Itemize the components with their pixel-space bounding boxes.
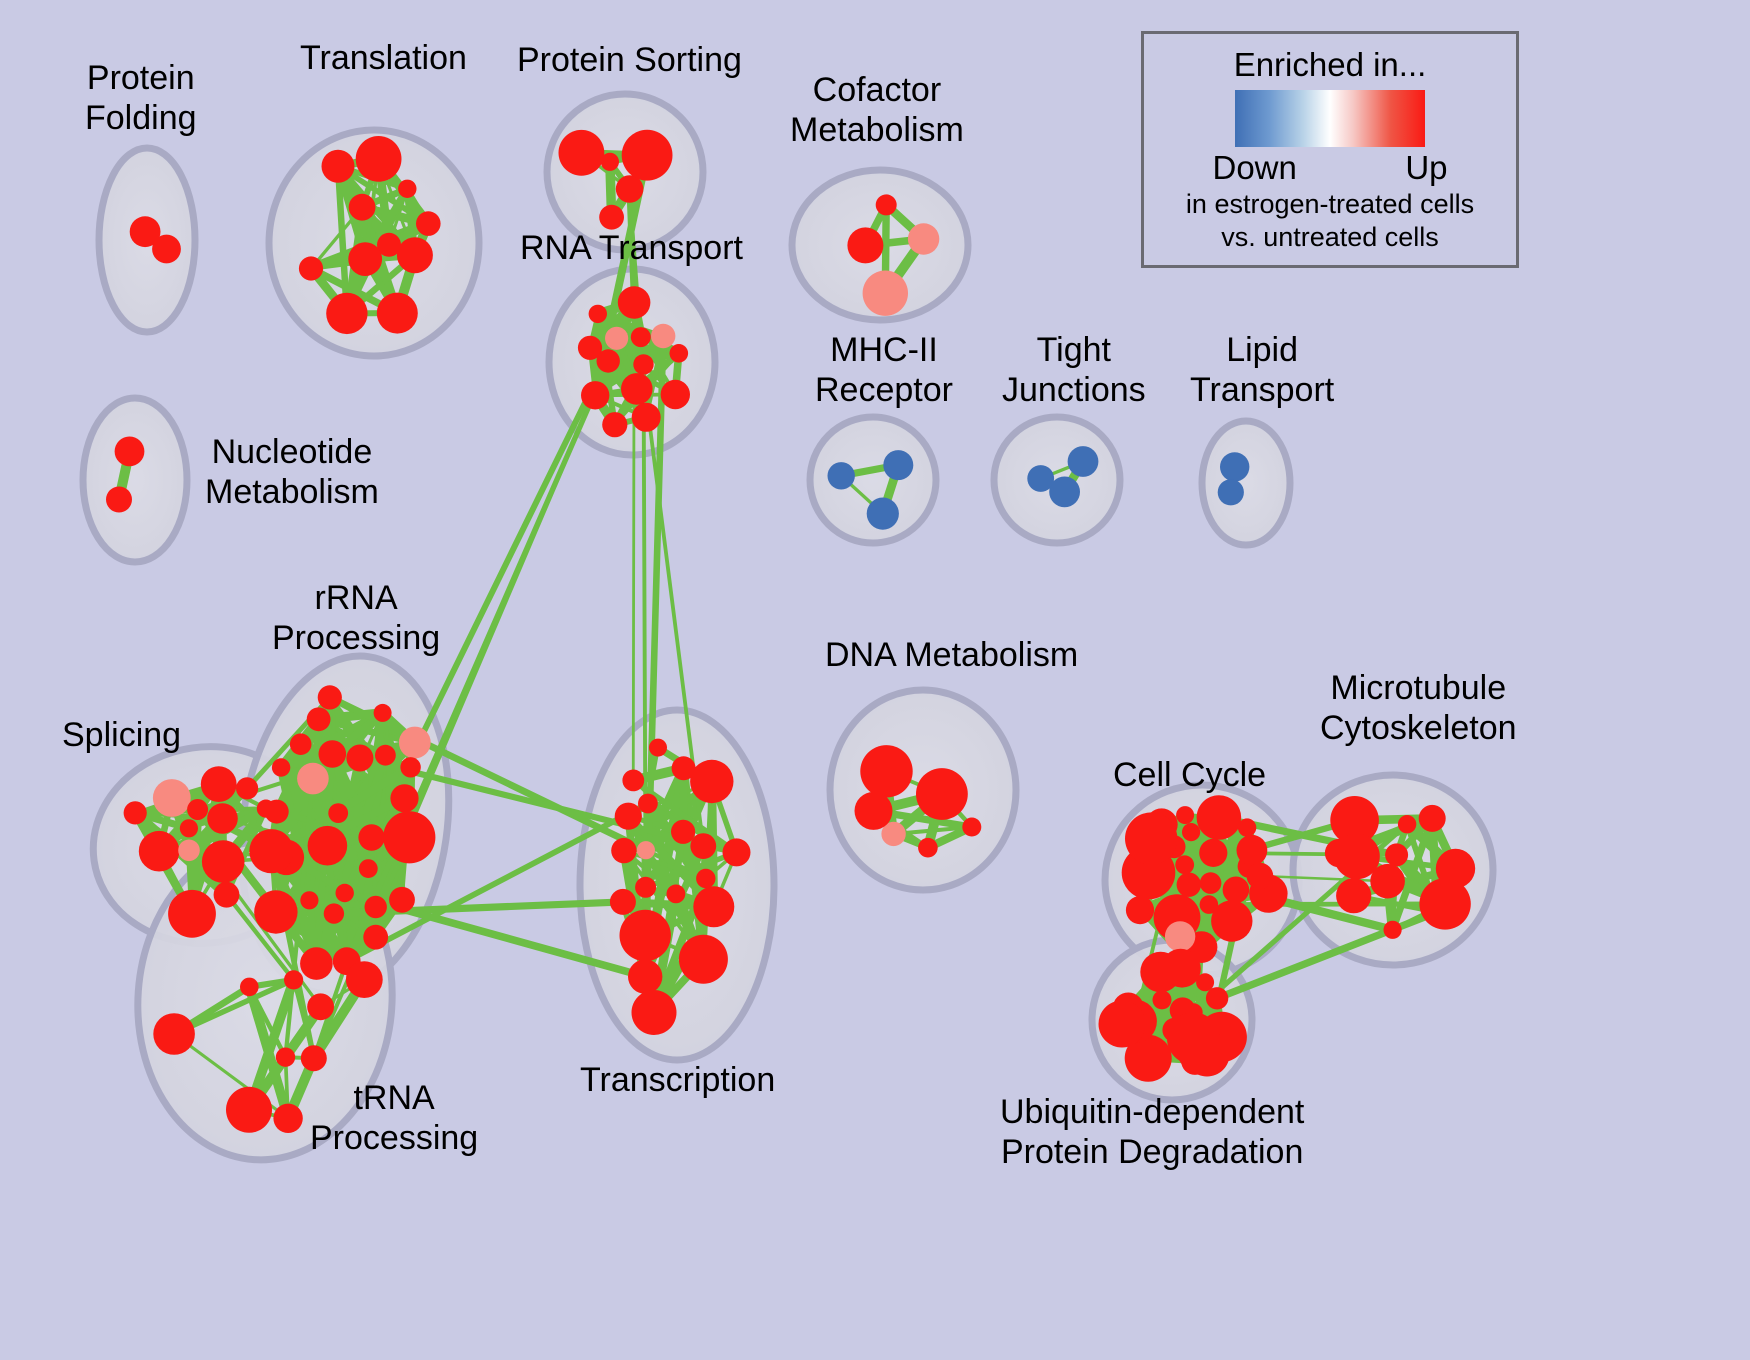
network-node[interactable]: [860, 745, 912, 797]
network-node[interactable]: [916, 768, 968, 820]
network-node[interactable]: [602, 412, 627, 437]
network-node[interactable]: [153, 779, 191, 817]
network-node[interactable]: [346, 961, 383, 998]
network-node[interactable]: [622, 130, 673, 181]
network-node[interactable]: [962, 818, 981, 837]
network-node[interactable]: [1196, 973, 1214, 991]
network-node[interactable]: [272, 758, 290, 776]
network-node[interactable]: [632, 403, 661, 432]
network-node[interactable]: [390, 784, 418, 812]
network-node[interactable]: [106, 487, 132, 513]
network-node[interactable]: [187, 799, 208, 820]
network-node[interactable]: [1175, 855, 1194, 874]
network-node[interactable]: [1385, 843, 1408, 866]
network-node[interactable]: [307, 707, 331, 731]
network-node[interactable]: [1384, 921, 1402, 939]
network-node[interactable]: [359, 859, 378, 878]
network-node[interactable]: [308, 826, 348, 866]
network-node[interactable]: [318, 685, 342, 709]
legend-subtitle-line2: vs. untreated cells: [1221, 222, 1439, 253]
network-node[interactable]: [1162, 949, 1199, 986]
network-node[interactable]: [375, 745, 396, 766]
network-node[interactable]: [301, 1045, 327, 1071]
network-node[interactable]: [180, 819, 198, 837]
network-node[interactable]: [696, 869, 715, 888]
network-node[interactable]: [336, 884, 354, 902]
network-node[interactable]: [207, 803, 238, 834]
network-figure: Protein FoldingTranslationNucleotide Met…: [0, 0, 1750, 1360]
network-node[interactable]: [300, 891, 318, 909]
network-node[interactable]: [637, 841, 655, 859]
network-node[interactable]: [1247, 863, 1274, 890]
network-node[interactable]: [416, 211, 441, 236]
network-node[interactable]: [693, 886, 734, 927]
legend-colorbar: [1235, 90, 1425, 147]
network-node[interactable]: [611, 838, 636, 863]
network-node[interactable]: [855, 792, 893, 830]
network-node[interactable]: [276, 1048, 295, 1067]
network-node[interactable]: [254, 890, 297, 933]
network-node[interactable]: [273, 1104, 302, 1133]
network-node[interactable]: [847, 227, 883, 263]
network-node[interactable]: [1126, 896, 1154, 924]
network-node[interactable]: [400, 757, 420, 777]
network-node[interactable]: [240, 978, 259, 997]
network-node[interactable]: [153, 1013, 195, 1055]
network-node[interactable]: [618, 286, 651, 319]
network-node[interactable]: [236, 777, 258, 799]
network-node[interactable]: [326, 293, 367, 334]
network-node[interactable]: [723, 838, 751, 866]
network-node[interactable]: [300, 947, 333, 980]
network-node[interactable]: [1419, 805, 1446, 832]
network-node[interactable]: [635, 877, 656, 898]
network-node[interactable]: [249, 829, 293, 873]
legend-box: Enriched in... Down Up in estrogen-treat…: [1141, 31, 1519, 268]
network-node[interactable]: [397, 237, 433, 273]
network-node[interactable]: [1200, 872, 1222, 894]
network-node[interactable]: [374, 704, 392, 722]
network-node[interactable]: [346, 745, 373, 772]
network-node[interactable]: [597, 349, 620, 372]
network-node[interactable]: [115, 437, 145, 467]
network-node[interactable]: [1206, 987, 1228, 1009]
network-node[interactable]: [621, 373, 653, 405]
network-node[interactable]: [297, 763, 329, 795]
network-node[interactable]: [622, 770, 644, 792]
network-node[interactable]: [1167, 1012, 1219, 1064]
network-node[interactable]: [1218, 479, 1244, 505]
network-node[interactable]: [363, 925, 388, 950]
network-node[interactable]: [883, 450, 913, 480]
network-node[interactable]: [620, 910, 671, 961]
network-node[interactable]: [589, 305, 607, 323]
network-node[interactable]: [284, 970, 303, 989]
cluster-hull-lipid-transport: [1202, 421, 1290, 545]
network-node[interactable]: [1334, 833, 1380, 879]
network-node[interactable]: [672, 756, 696, 780]
network-node[interactable]: [679, 935, 728, 984]
edge: [1209, 904, 1445, 905]
network-node[interactable]: [383, 811, 435, 863]
network-node[interactable]: [1238, 818, 1256, 836]
network-node[interactable]: [631, 327, 651, 347]
network-node[interactable]: [124, 801, 147, 824]
network-node[interactable]: [615, 803, 642, 830]
network-node[interactable]: [1153, 990, 1172, 1009]
network-node[interactable]: [690, 760, 733, 803]
network-node[interactable]: [201, 766, 237, 802]
network-node[interactable]: [214, 882, 240, 908]
network-node[interactable]: [1197, 795, 1242, 840]
network-node[interactable]: [265, 800, 289, 824]
network-node[interactable]: [828, 462, 855, 489]
network-node[interactable]: [633, 354, 653, 374]
network-node[interactable]: [398, 180, 416, 198]
network-node[interactable]: [1237, 835, 1268, 866]
network-node[interactable]: [670, 344, 689, 363]
network-node[interactable]: [307, 993, 334, 1020]
network-node[interactable]: [661, 380, 690, 409]
network-node[interactable]: [349, 194, 376, 221]
network-node[interactable]: [389, 887, 415, 913]
network-node[interactable]: [690, 833, 716, 859]
network-node[interactable]: [1200, 895, 1219, 914]
network-node[interactable]: [1182, 823, 1200, 841]
network-node[interactable]: [908, 223, 939, 254]
network-node[interactable]: [1223, 877, 1250, 904]
network-node[interactable]: [1398, 815, 1416, 833]
network-node[interactable]: [638, 794, 658, 814]
network-node[interactable]: [290, 733, 312, 755]
network-node[interactable]: [1125, 812, 1177, 864]
network-node[interactable]: [1099, 1001, 1146, 1048]
legend-up-label: Up: [1405, 149, 1447, 187]
network-node[interactable]: [610, 889, 636, 915]
network-node[interactable]: [628, 959, 662, 993]
network-node[interactable]: [299, 256, 323, 280]
network-node[interactable]: [1049, 477, 1080, 508]
network-node[interactable]: [867, 497, 899, 529]
network-node[interactable]: [348, 242, 382, 276]
network-node[interactable]: [358, 824, 384, 850]
network-node[interactable]: [599, 205, 624, 230]
network-node[interactable]: [324, 903, 344, 923]
network-node[interactable]: [328, 803, 348, 823]
legend-title: Enriched in...: [1234, 46, 1427, 84]
network-node[interactable]: [632, 990, 677, 1035]
network-node[interactable]: [1199, 839, 1227, 867]
network-node[interactable]: [1336, 878, 1371, 913]
network-node[interactable]: [863, 271, 908, 316]
network-node[interactable]: [1220, 452, 1249, 481]
network-node[interactable]: [1177, 873, 1201, 897]
network-node[interactable]: [377, 293, 418, 334]
cluster-hull-nucleotide-metabolism: [83, 398, 187, 562]
network-node[interactable]: [876, 194, 897, 215]
network-node[interactable]: [918, 838, 938, 858]
network-node[interactable]: [319, 740, 347, 768]
network-node[interactable]: [651, 324, 675, 348]
network-node[interactable]: [559, 130, 605, 176]
legend-down-label: Down: [1213, 149, 1297, 187]
network-node[interactable]: [399, 727, 431, 759]
network-node[interactable]: [671, 820, 695, 844]
network-node[interactable]: [605, 327, 628, 350]
network-node[interactable]: [1068, 446, 1099, 477]
network-node[interactable]: [178, 840, 200, 862]
network-node[interactable]: [1176, 806, 1194, 824]
network-node[interactable]: [356, 136, 402, 182]
network-node[interactable]: [322, 150, 355, 183]
network-node[interactable]: [667, 885, 686, 904]
network-node[interactable]: [649, 739, 667, 757]
network-node[interactable]: [1419, 878, 1470, 929]
network-node[interactable]: [130, 216, 161, 247]
network-node[interactable]: [226, 1087, 272, 1133]
legend-subtitle-line1: in estrogen-treated cells: [1186, 189, 1474, 220]
network-node[interactable]: [1165, 921, 1195, 951]
network-node[interactable]: [168, 890, 216, 938]
network-node[interactable]: [365, 896, 387, 918]
network-node[interactable]: [581, 381, 609, 409]
network-node[interactable]: [139, 831, 180, 872]
network-node[interactable]: [202, 840, 245, 883]
